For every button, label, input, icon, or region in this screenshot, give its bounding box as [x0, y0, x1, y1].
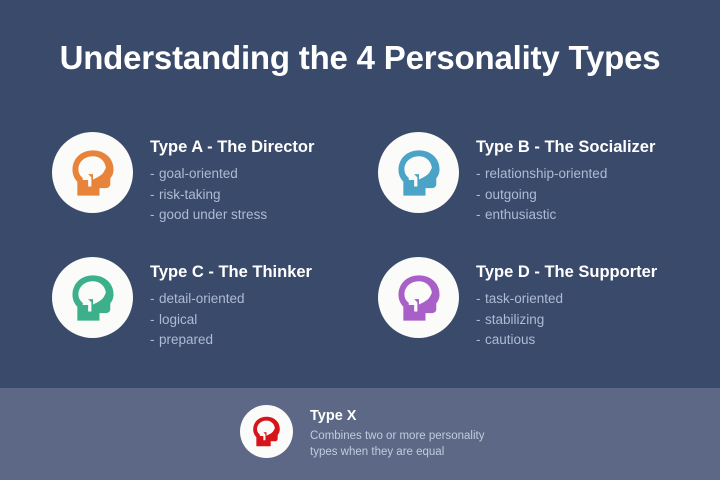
- type-c-heading: Type C - The Thinker: [150, 262, 312, 282]
- trait-item: -good under stress: [150, 205, 314, 226]
- type-d-body: Type D - The Supporter -task-oriented -s…: [476, 257, 657, 351]
- type-d-heading: Type D - The Supporter: [476, 262, 657, 282]
- type-x-badge: [240, 405, 293, 458]
- trait-item: -prepared: [150, 330, 312, 351]
- trait-label: stabilizing: [485, 312, 544, 327]
- type-c-trait-list: -detail-oriented -logical -prepared: [150, 289, 312, 351]
- type-card-b: Type B - The Socializer -relationship-or…: [378, 132, 708, 232]
- personality-types-infographic: Understanding the 4 Personality Types Ty…: [0, 0, 720, 480]
- trait-item: -stabilizing: [476, 310, 657, 331]
- trait-item: -logical: [150, 310, 312, 331]
- type-b-trait-list: -relationship-oriented -outgoing -enthus…: [476, 164, 655, 226]
- bullet-dash: -: [476, 164, 485, 185]
- trait-item: -enthusiastic: [476, 205, 655, 226]
- type-card-x: Type X Combines two or more personality …: [240, 405, 640, 465]
- page-title: Understanding the 4 Personality Types: [0, 36, 720, 80]
- trait-item: -goal-oriented: [150, 164, 314, 185]
- type-c-badge: [52, 257, 133, 338]
- title-bar: Understanding the 4 Personality Types: [0, 36, 720, 80]
- trait-item: -outgoing: [476, 185, 655, 206]
- trait-item: -cautious: [476, 330, 657, 351]
- bullet-dash: -: [476, 205, 485, 226]
- bullet-dash: -: [150, 185, 159, 206]
- trait-item: -detail-oriented: [150, 289, 312, 310]
- type-a-trait-list: -goal-oriented -risk-taking -good under …: [150, 164, 314, 226]
- type-x-description-line-2: types when they are equal: [310, 445, 485, 461]
- trait-label: prepared: [159, 332, 213, 347]
- type-a-badge: [52, 132, 133, 213]
- type-b-heading: Type B - The Socializer: [476, 137, 655, 157]
- bullet-dash: -: [476, 310, 485, 331]
- type-card-c: Type C - The Thinker -detail-oriented -l…: [52, 257, 382, 357]
- bullet-dash: -: [476, 330, 485, 351]
- trait-label: cautious: [485, 332, 535, 347]
- bullet-dash: -: [150, 310, 159, 331]
- bullet-dash: -: [150, 289, 159, 310]
- type-b-badge: [378, 132, 459, 213]
- trait-label: outgoing: [485, 187, 537, 202]
- trait-label: detail-oriented: [159, 291, 245, 306]
- trait-item: -relationship-oriented: [476, 164, 655, 185]
- type-b-body: Type B - The Socializer -relationship-or…: [476, 132, 655, 226]
- trait-label: risk-taking: [159, 187, 221, 202]
- head-brain-icon: [392, 271, 446, 325]
- head-brain-icon: [392, 146, 446, 200]
- bullet-dash: -: [476, 289, 485, 310]
- type-x-description-line-1: Combines two or more personality: [310, 429, 485, 445]
- type-a-body: Type A - The Director -goal-oriented -ri…: [150, 132, 314, 226]
- type-d-badge: [378, 257, 459, 338]
- trait-item: -task-oriented: [476, 289, 657, 310]
- head-brain-icon: [66, 146, 120, 200]
- trait-label: goal-oriented: [159, 166, 238, 181]
- type-c-body: Type C - The Thinker -detail-oriented -l…: [150, 257, 312, 351]
- type-card-d: Type D - The Supporter -task-oriented -s…: [378, 257, 708, 357]
- type-card-a: Type A - The Director -goal-oriented -ri…: [52, 132, 382, 232]
- type-x-heading: Type X: [310, 407, 485, 426]
- trait-item: -risk-taking: [150, 185, 314, 206]
- bullet-dash: -: [150, 330, 159, 351]
- trait-label: relationship-oriented: [485, 166, 607, 181]
- trait-label: logical: [159, 312, 197, 327]
- bullet-dash: -: [150, 205, 159, 226]
- bullet-dash: -: [476, 185, 485, 206]
- type-a-heading: Type A - The Director: [150, 137, 314, 157]
- type-x-body: Type X Combines two or more personality …: [310, 405, 485, 460]
- type-d-trait-list: -task-oriented -stabilizing -cautious: [476, 289, 657, 351]
- trait-label: enthusiastic: [485, 207, 556, 222]
- footer-band: Type X Combines two or more personality …: [0, 388, 720, 480]
- trait-label: task-oriented: [485, 291, 563, 306]
- head-brain-icon: [66, 271, 120, 325]
- trait-label: good under stress: [159, 207, 267, 222]
- bullet-dash: -: [150, 164, 159, 185]
- head-brain-icon: [249, 414, 284, 449]
